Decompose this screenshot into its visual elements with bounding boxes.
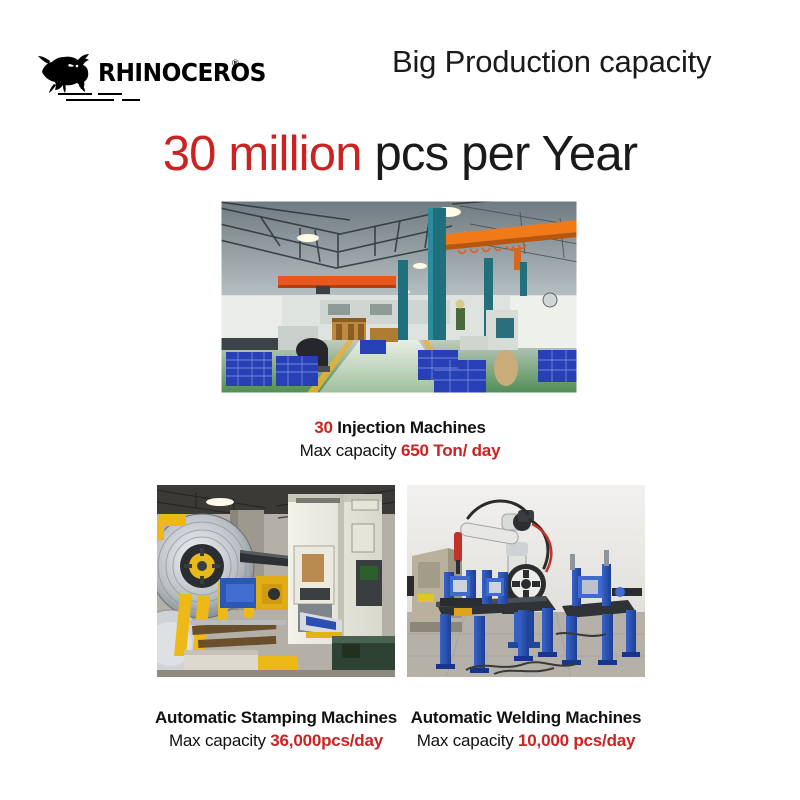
injection-count: 30 [314,418,333,437]
registered-trademark-icon: ® [232,58,239,68]
welding-capacity-value: 10,000 pcs/day [518,731,635,750]
promo-banner: RHINOCEROS ® Big Production capacity 30 … [0,0,800,800]
welding-robot-photo [406,484,646,678]
injection-label: Injection Machines [333,418,486,437]
page-title: Big Production capacity [392,44,711,80]
rhinoceros-logo-icon [36,50,106,96]
caption-welding-line1: Automatic Welding Machines [386,708,666,728]
brand-wordmark: RHINOCEROS [98,58,266,87]
headline-rest: pcs per Year [362,127,638,181]
caption-welding-line2: Max capacity 10,000 pcs/day [386,731,666,751]
caption-injection-line2: Max capacity 650 Ton/ day [0,441,800,461]
caption-stamping: Automatic Stamping Machines Max capacity… [136,708,416,751]
injection-capacity-value: 650 Ton/ day [401,441,500,460]
injection-capacity-label: Max capacity [300,441,401,460]
stamping-capacity-label: Max capacity [169,731,270,750]
stamping-capacity-value: 36,000pcs/day [270,731,383,750]
stamping-label: Automatic Stamping Machines [155,708,397,727]
caption-welding: Automatic Welding Machines Max capacity … [386,708,666,751]
brand-logo: RHINOCEROS ® [36,50,236,106]
caption-injection: 30 Injection Machines Max capacity 650 T… [0,418,800,461]
caption-injection-line1: 30 Injection Machines [0,418,800,438]
headline: 30 million pcs per Year [0,126,800,182]
factory-interior-photo [220,200,578,394]
headline-highlight: 30 million [163,127,362,181]
caption-stamping-line1: Automatic Stamping Machines [136,708,416,728]
logo-underline-rules [58,93,188,103]
page-header: RHINOCEROS ® Big Production capacity [0,44,800,106]
stamping-machine-photo [156,484,396,678]
caption-stamping-line2: Max capacity 36,000pcs/day [136,731,416,751]
welding-capacity-label: Max capacity [417,731,518,750]
welding-label: Automatic Welding Machines [411,708,642,727]
